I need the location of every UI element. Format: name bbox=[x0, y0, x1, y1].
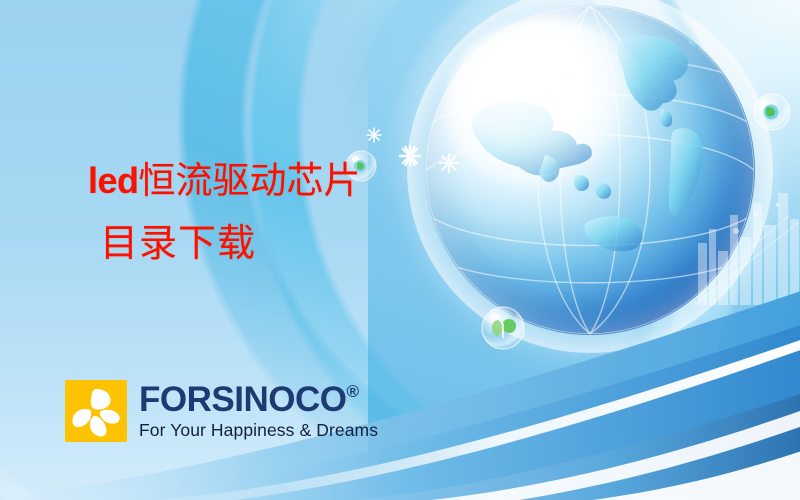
headline-cjk-text: 恒流驱动芯片 bbox=[139, 161, 361, 202]
four-petal-pinwheel-icon bbox=[65, 380, 127, 442]
bubble-sprout-icon bbox=[480, 305, 526, 351]
logo-text-block: FORSINOCO® For Your Happiness & Dreams bbox=[139, 382, 378, 441]
logo-tagline: For Your Happiness & Dreams bbox=[139, 420, 378, 441]
headline-block: led恒流驱动芯片 目录下载 bbox=[88, 163, 361, 263]
headline-line-1: led恒流驱动芯片 bbox=[88, 163, 361, 200]
headline-latin-text: led bbox=[88, 160, 139, 201]
bubble-globe-icon bbox=[752, 92, 792, 132]
registered-trademark-icon: ® bbox=[346, 383, 358, 400]
logo-brand-word: FORSINOCO bbox=[139, 382, 346, 417]
company-logo[interactable]: FORSINOCO® For Your Happiness & Dreams bbox=[65, 380, 378, 442]
slide-canvas: led恒流驱动芯片 目录下载 FORSINOCO® For Your Happi… bbox=[0, 0, 800, 500]
headline-line-2: 目录下载 bbox=[100, 225, 361, 263]
logo-mark-square bbox=[65, 380, 127, 442]
logo-brand-name: FORSINOCO® bbox=[139, 382, 378, 417]
